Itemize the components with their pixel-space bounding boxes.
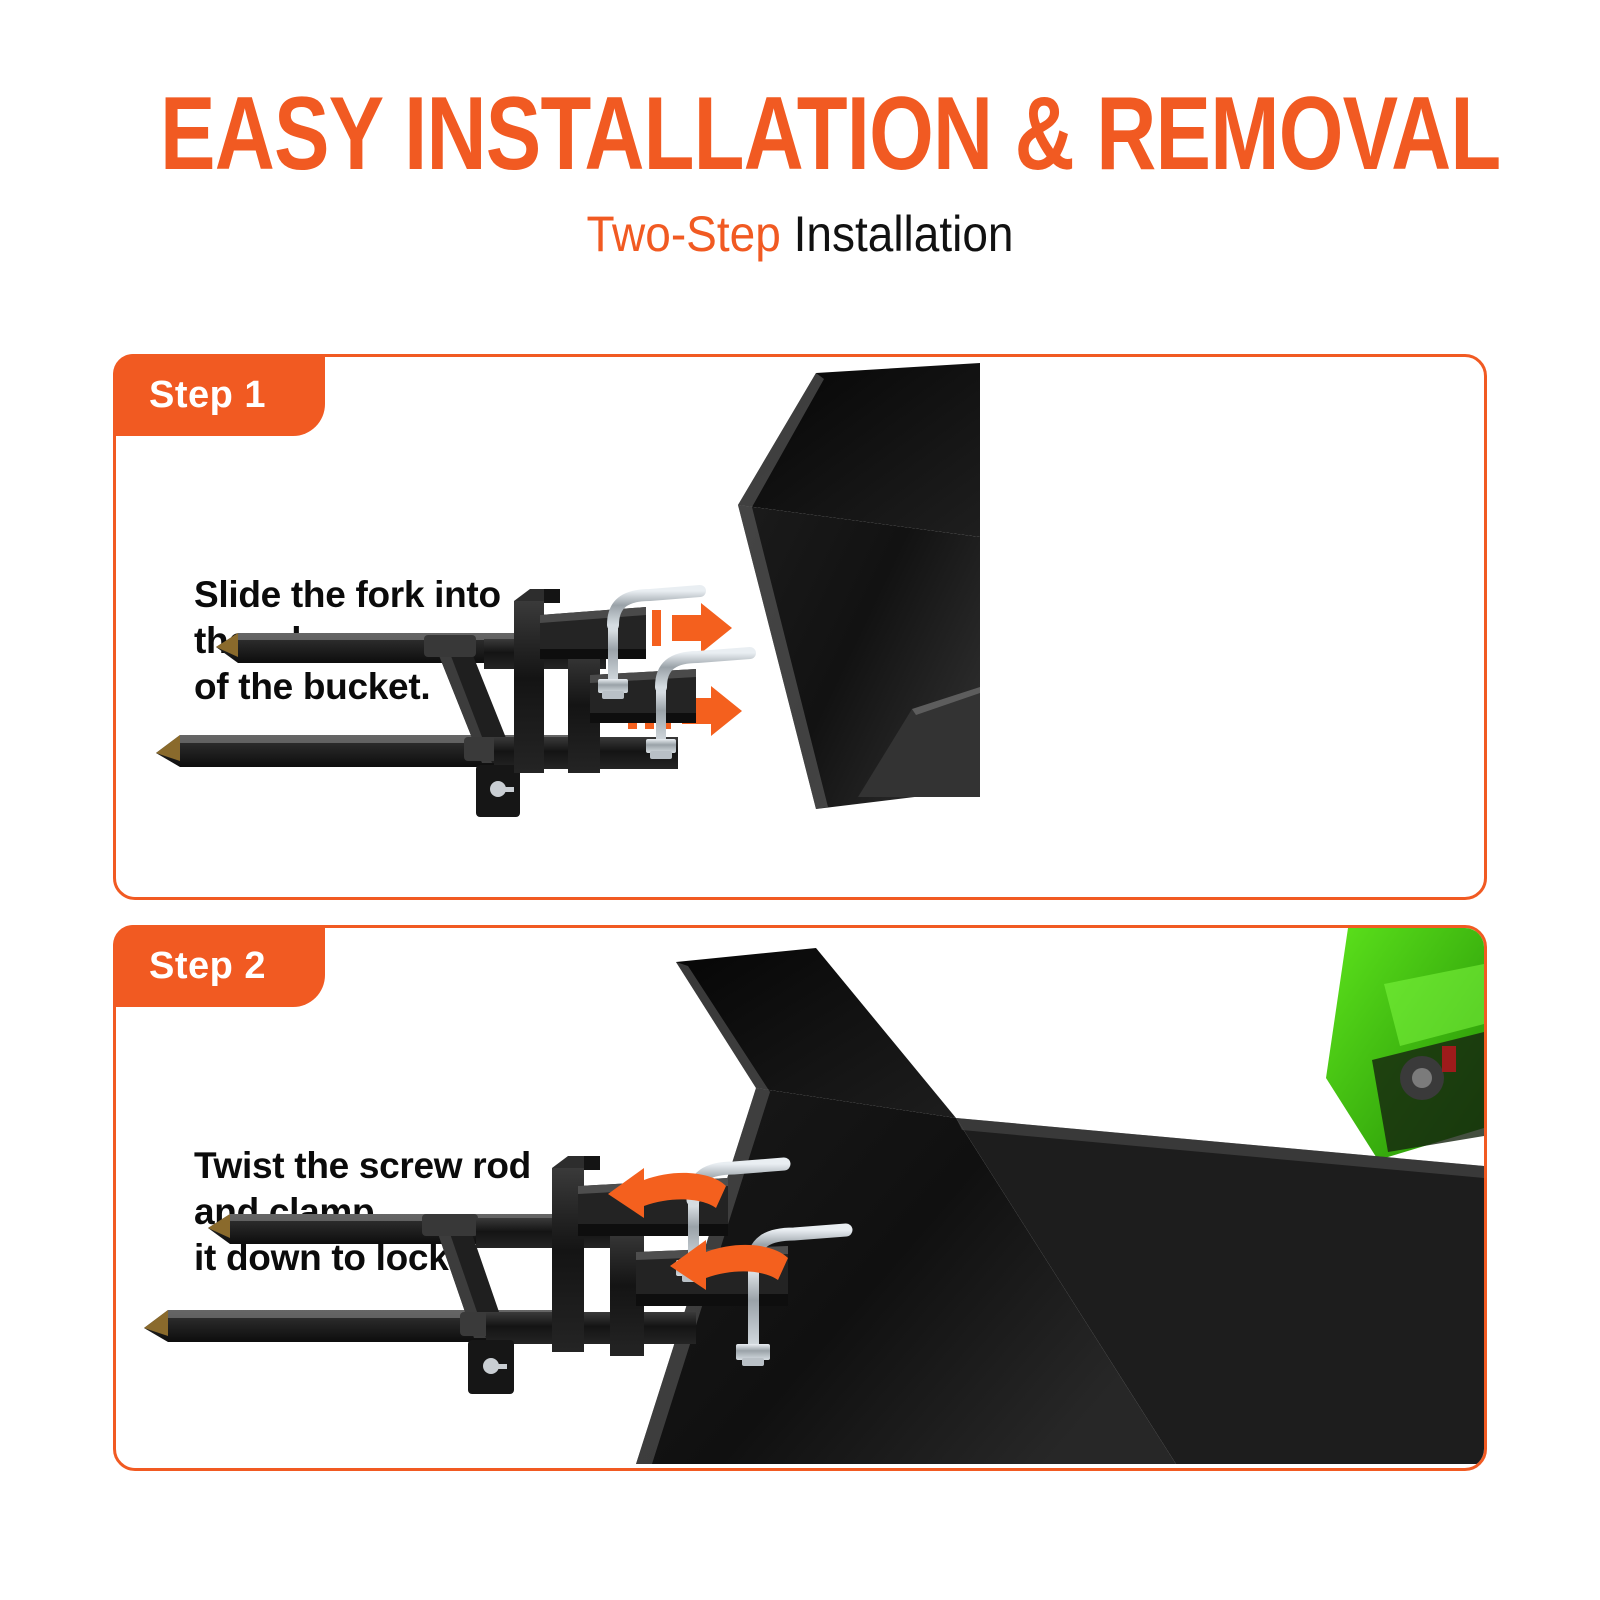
clamp-jaw-lower-icon — [590, 669, 696, 723]
subtitle-rest: Installation — [781, 206, 1014, 262]
header: EASY INSTALLATION & REMOVAL Two-Step Ins… — [0, 0, 1600, 320]
upright-post-rear-icon — [514, 601, 544, 773]
upper-mount-tube-icon — [484, 639, 606, 669]
loader-bucket-icon — [636, 948, 1484, 1464]
step-2-tab: Step 2 — [113, 925, 325, 1007]
subtitle: Two-Step Installation — [64, 205, 1536, 263]
clamp-jaw-lower-icon — [636, 1246, 788, 1306]
rotation-arrow-lower-icon — [670, 1240, 788, 1290]
subtitle-accent: Two-Step — [586, 206, 780, 262]
upright-post-front-icon — [568, 649, 600, 773]
screw-rod-upper-icon — [676, 1164, 784, 1282]
upright-post-rear-icon — [552, 1168, 584, 1352]
loader-bucket-icon — [738, 363, 980, 809]
step-1-tab: Step 1 — [113, 354, 325, 436]
clamp-jaw-upper-icon — [578, 1178, 728, 1236]
fork-blade-lower-icon — [144, 1310, 556, 1342]
step-2-panel: Step 2 Twist the screw rod and clamp it … — [113, 925, 1487, 1471]
screw-rod-lower-icon — [736, 1230, 846, 1366]
lower-mount-tube-icon — [486, 1312, 696, 1344]
clamp-jaw-upper-icon — [540, 607, 646, 659]
lock-pin-block-icon — [476, 765, 520, 817]
lower-mount-tube-icon — [494, 737, 678, 769]
screw-rod-lower-icon — [646, 653, 750, 759]
motion-arrow-lower-icon — [628, 686, 742, 736]
step-1-instruction: Slide the fork into the edge of the buck… — [194, 572, 501, 710]
page-title: EASY INSTALLATION & REMOVAL — [160, 82, 1440, 186]
step-1-panel: Step 1 Slide the fork into the edge of t… — [113, 354, 1487, 900]
fork-blade-lower-icon — [156, 735, 586, 767]
lock-pin-block-icon — [468, 1340, 514, 1394]
screw-rod-upper-icon — [598, 591, 700, 699]
rotation-arrow-upper-icon — [608, 1168, 726, 1218]
green-tractor-icon — [1326, 928, 1484, 1160]
step-2-instruction: Twist the screw rod and clamp it down to… — [194, 1143, 531, 1281]
upright-post-front-icon — [610, 1228, 644, 1356]
motion-arrow-upper-icon — [618, 603, 732, 653]
